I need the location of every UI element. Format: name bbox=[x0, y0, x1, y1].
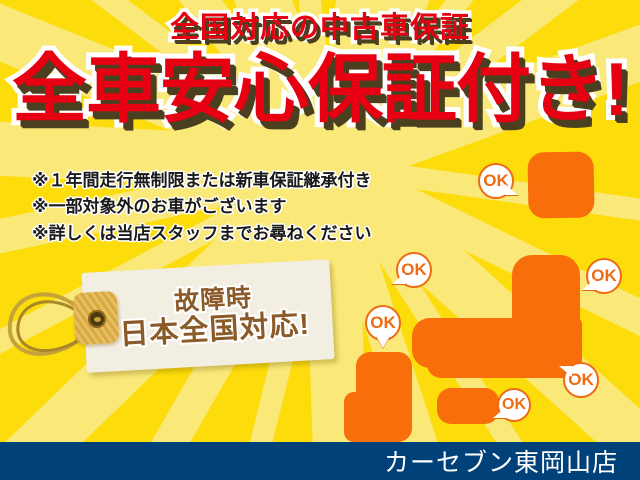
notes-list: ※１年間走行無制限または新車保証継承付き ※一部対象外のお車がございます ※詳し… bbox=[32, 168, 432, 247]
store-name: カーセブン東岡山店 bbox=[384, 443, 640, 479]
ok-badge: OK bbox=[365, 305, 401, 341]
note-line: ※１年間走行無制限または新車保証継承付き bbox=[32, 168, 432, 194]
tag-text-block: 故障時 日本全国対応! bbox=[101, 262, 326, 370]
hanging-tag: 故障時 日本全国対応! bbox=[0, 262, 350, 392]
seat-headrest-shape bbox=[527, 151, 594, 218]
ok-badge: OK bbox=[497, 388, 531, 422]
note-line: ※詳しくは当店スタッフまでお尋ねください bbox=[32, 221, 432, 247]
main-headline: 全車安心保証付き! bbox=[12, 52, 628, 127]
ok-badge-label: OK bbox=[568, 370, 594, 390]
ok-badge: OK bbox=[586, 258, 622, 294]
ok-badge-label: OK bbox=[370, 313, 396, 333]
ok-badge-tail bbox=[559, 366, 572, 377]
ok-badge-tail bbox=[392, 273, 405, 284]
header-strip: 全国対応の中古車保証 bbox=[0, 10, 640, 47]
bottom-bar: カーセブン東岡山店 bbox=[0, 442, 640, 480]
seat-base-shape bbox=[437, 388, 499, 424]
ok-badge: OK bbox=[396, 252, 432, 288]
main-strip: 全車安心保証付き! bbox=[0, 52, 640, 127]
tag-line-2: 日本全国対応! bbox=[119, 310, 311, 351]
seat-leg-notch-shape bbox=[344, 392, 370, 442]
ok-badge-tail bbox=[582, 279, 595, 290]
ok-badge: OK bbox=[563, 362, 599, 398]
ok-badge-label: OK bbox=[401, 260, 427, 280]
note-line: ※一部対象外のお車がございます bbox=[32, 194, 432, 220]
ok-badge-tail bbox=[376, 336, 390, 348]
ok-badge-tail bbox=[493, 407, 506, 418]
tag-line-1: 故障時 bbox=[173, 285, 252, 316]
ok-badge-label: OK bbox=[591, 266, 617, 286]
ok-badge-tail bbox=[505, 184, 518, 195]
advertisement-banner: OKOKOKOKOKOK 全国対応の中古車保証 全車安心保証付き! ※１年間走行… bbox=[0, 0, 640, 480]
ok-badge: OK bbox=[478, 163, 514, 199]
header-title: 全国対応の中古車保証 bbox=[160, 10, 480, 47]
